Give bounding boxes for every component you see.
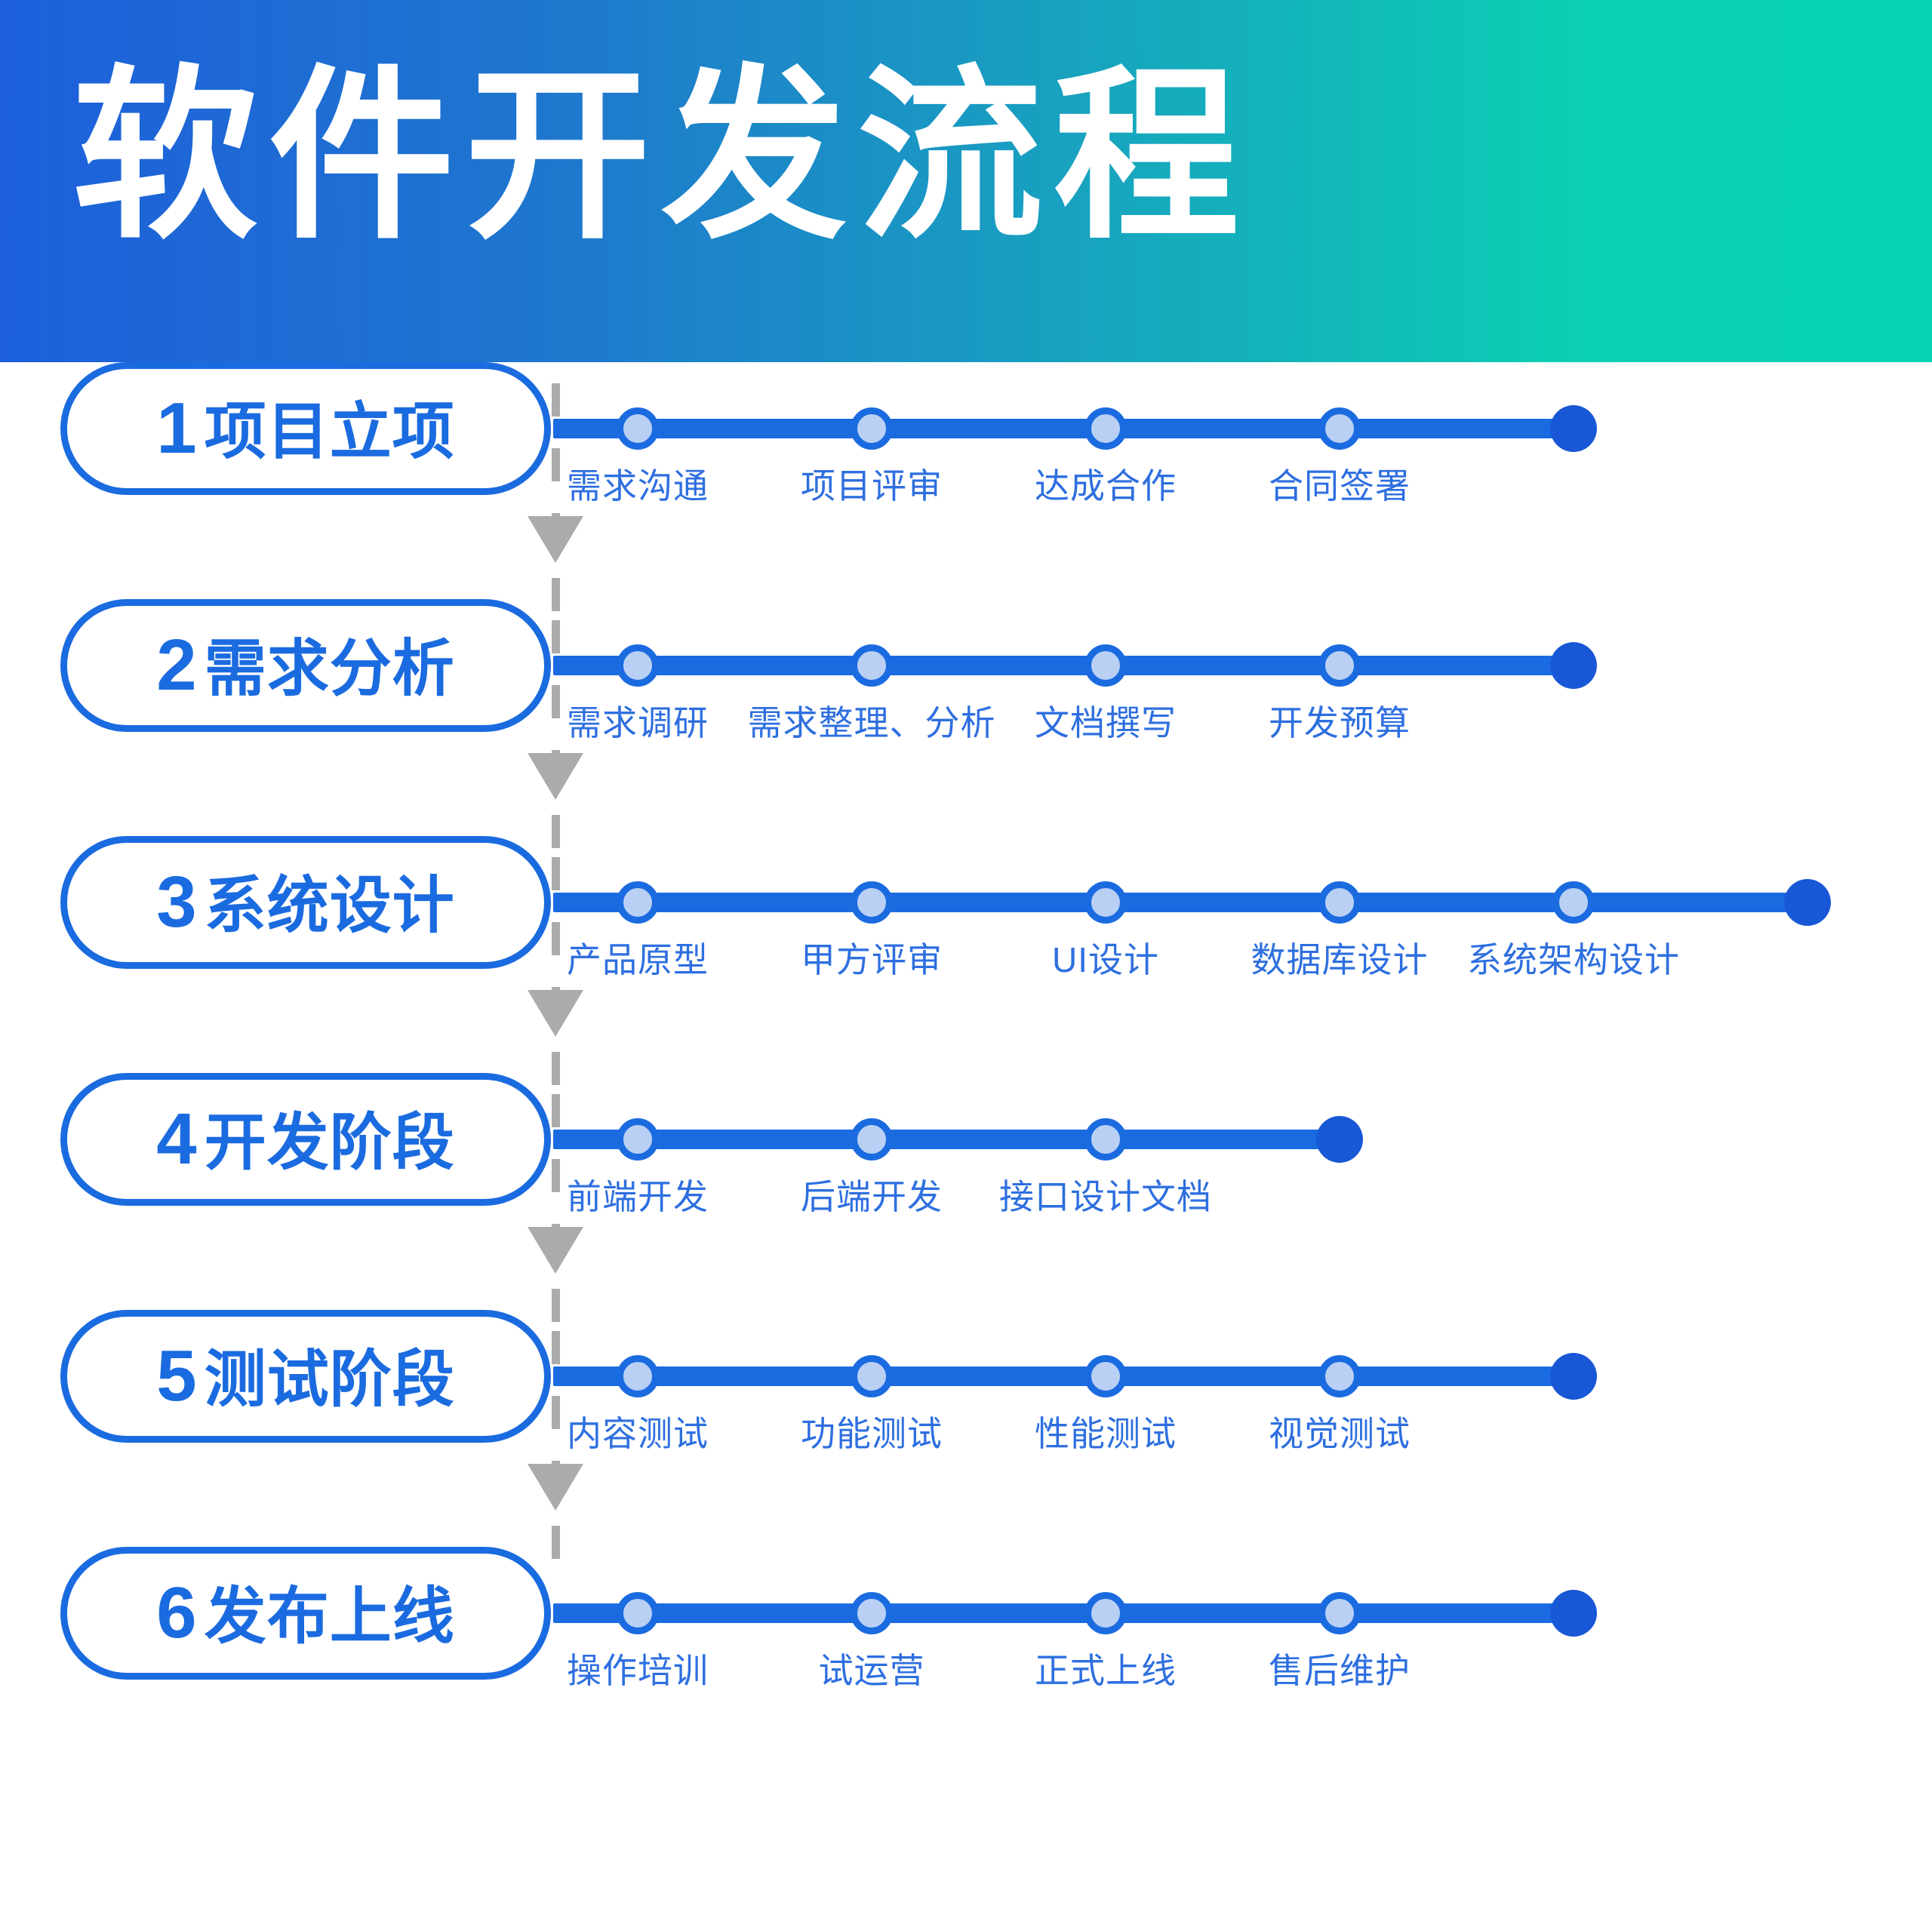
stage-name: 发布上线 — [205, 1586, 455, 1648]
stage-timeline-bar — [553, 893, 1807, 912]
step-label: 前端开发 — [567, 1170, 709, 1219]
step-label: 达成合作 — [1035, 459, 1177, 509]
step-node[interactable] — [1084, 881, 1127, 924]
stage-timeline-bar — [553, 1366, 1574, 1386]
step-node[interactable] — [851, 1592, 893, 1634]
step-node[interactable] — [1318, 1592, 1361, 1634]
step-node[interactable] — [1084, 644, 1127, 687]
step-label: 售后维护 — [1269, 1643, 1411, 1693]
step-node[interactable] — [1084, 1355, 1127, 1397]
step-label: 试运营 — [819, 1643, 925, 1693]
stage-connector-arrow-icon — [528, 753, 583, 800]
stage-number: 1 — [156, 392, 196, 465]
step-node[interactable] — [851, 1118, 893, 1160]
stage-pill-content: 3系统设计 — [156, 866, 454, 939]
stage-pill-content: 5测试阶段 — [156, 1340, 454, 1413]
stage-name: 项目立项 — [205, 401, 455, 463]
step-node[interactable] — [617, 1355, 659, 1397]
stage-pill-2[interactable]: 2需求分析 — [60, 599, 551, 732]
stage-pill-content: 2需求分析 — [156, 629, 454, 702]
stage-timeline-bar — [553, 656, 1574, 675]
stage-name: 需求分析 — [205, 638, 455, 700]
step-label: 开发预算 — [1269, 696, 1411, 745]
stage-name: 测试阶段 — [205, 1349, 455, 1411]
stage-number: 3 — [156, 866, 196, 939]
stage-pill-3[interactable]: 3系统设计 — [60, 836, 551, 969]
page-title: 软件开发流程 — [72, 35, 1250, 280]
stage-connector-arrow-icon — [528, 1227, 583, 1274]
step-label: 接口设计文档 — [999, 1170, 1212, 1219]
stage-connector-arrow-icon — [528, 1464, 583, 1511]
stage-end-node — [1550, 405, 1597, 452]
stage-end-node — [1550, 1590, 1597, 1637]
step-node[interactable] — [851, 881, 893, 924]
stage-name: 开发阶段 — [205, 1112, 455, 1174]
step-node[interactable] — [1084, 1592, 1127, 1634]
stage-connector-arrow-icon — [528, 990, 583, 1037]
flow-diagram: 1项目立项需求沟通项目评审达成合作合同签署2需求分析需求调研需求整理、分析文档撰… — [0, 362, 1932, 1909]
step-label: 需求沟通 — [567, 459, 709, 509]
step-node[interactable] — [1552, 881, 1595, 924]
header-banner: 软件开发流程 — [0, 0, 1932, 362]
stage-row: 5测试阶段内容测试功能测试性能测试视觉测试 — [0, 1310, 1932, 1461]
stage-end-node — [1550, 1353, 1597, 1400]
step-label: 视觉测试 — [1269, 1406, 1411, 1456]
step-node[interactable] — [851, 644, 893, 687]
step-node[interactable] — [1084, 407, 1127, 450]
step-node[interactable] — [617, 881, 659, 924]
stage-row: 6发布上线操作培训试运营正式上线售后维护 — [0, 1547, 1932, 1698]
step-label: 文档撰写 — [1035, 696, 1177, 745]
stage-number: 6 — [156, 1577, 196, 1649]
step-label: 产品原型 — [567, 933, 709, 982]
stage-number: 2 — [156, 629, 196, 702]
step-node[interactable] — [1084, 1118, 1127, 1160]
step-label: 系统架构设计 — [1467, 933, 1680, 982]
stage-row: 2需求分析需求调研需求整理、分析文档撰写开发预算 — [0, 599, 1932, 750]
stage-name: 系统设计 — [205, 875, 455, 937]
step-label: 性能测试 — [1035, 1406, 1177, 1456]
stage-row: 4开发阶段前端开发后端开发接口设计文档 — [0, 1073, 1932, 1224]
step-label: 操作培训 — [567, 1643, 709, 1693]
stage-pill-4[interactable]: 4开发阶段 — [60, 1073, 551, 1206]
stage-end-node — [1550, 642, 1597, 689]
stage-connector-arrow-icon — [528, 516, 583, 563]
step-label: 需求整理、分析 — [748, 696, 996, 745]
stage-end-node — [1784, 879, 1831, 926]
step-label: 数据库设计 — [1251, 933, 1429, 982]
step-label: 项目评审 — [801, 459, 943, 509]
step-label: 甲方评审 — [801, 933, 943, 982]
step-label: 后端开发 — [801, 1170, 943, 1219]
step-node[interactable] — [1318, 1355, 1361, 1397]
step-node[interactable] — [1318, 644, 1361, 687]
step-label: 正式上线 — [1035, 1643, 1177, 1693]
step-node[interactable] — [851, 407, 893, 450]
step-node[interactable] — [617, 1118, 659, 1160]
step-label: 内容测试 — [567, 1406, 709, 1456]
step-node[interactable] — [617, 407, 659, 450]
step-label: 合同签署 — [1269, 459, 1411, 509]
stage-timeline-bar — [553, 1130, 1340, 1149]
stage-pill-content: 4开发阶段 — [156, 1103, 454, 1176]
step-node[interactable] — [851, 1355, 893, 1397]
step-node[interactable] — [617, 644, 659, 687]
stage-number: 4 — [156, 1103, 196, 1176]
stage-timeline-bar — [553, 1603, 1574, 1623]
stage-pill-content: 1项目立项 — [156, 392, 454, 465]
stage-end-node — [1316, 1116, 1363, 1163]
stage-pill-1[interactable]: 1项目立项 — [60, 362, 551, 495]
step-node[interactable] — [1318, 881, 1361, 924]
step-label: 需求调研 — [567, 696, 709, 745]
stage-pill-5[interactable]: 5测试阶段 — [60, 1310, 551, 1443]
stage-row: 3系统设计产品原型甲方评审UI设计数据库设计系统架构设计 — [0, 836, 1932, 987]
stage-pill-content: 6发布上线 — [156, 1577, 454, 1649]
step-label: UI设计 — [1052, 933, 1159, 982]
step-node[interactable] — [617, 1592, 659, 1634]
stage-number: 5 — [156, 1340, 196, 1413]
stage-pill-6[interactable]: 6发布上线 — [60, 1547, 551, 1680]
step-label: 功能测试 — [801, 1406, 943, 1456]
stage-timeline-bar — [553, 419, 1574, 438]
step-node[interactable] — [1318, 407, 1361, 450]
stage-row: 1项目立项需求沟通项目评审达成合作合同签署 — [0, 362, 1932, 513]
